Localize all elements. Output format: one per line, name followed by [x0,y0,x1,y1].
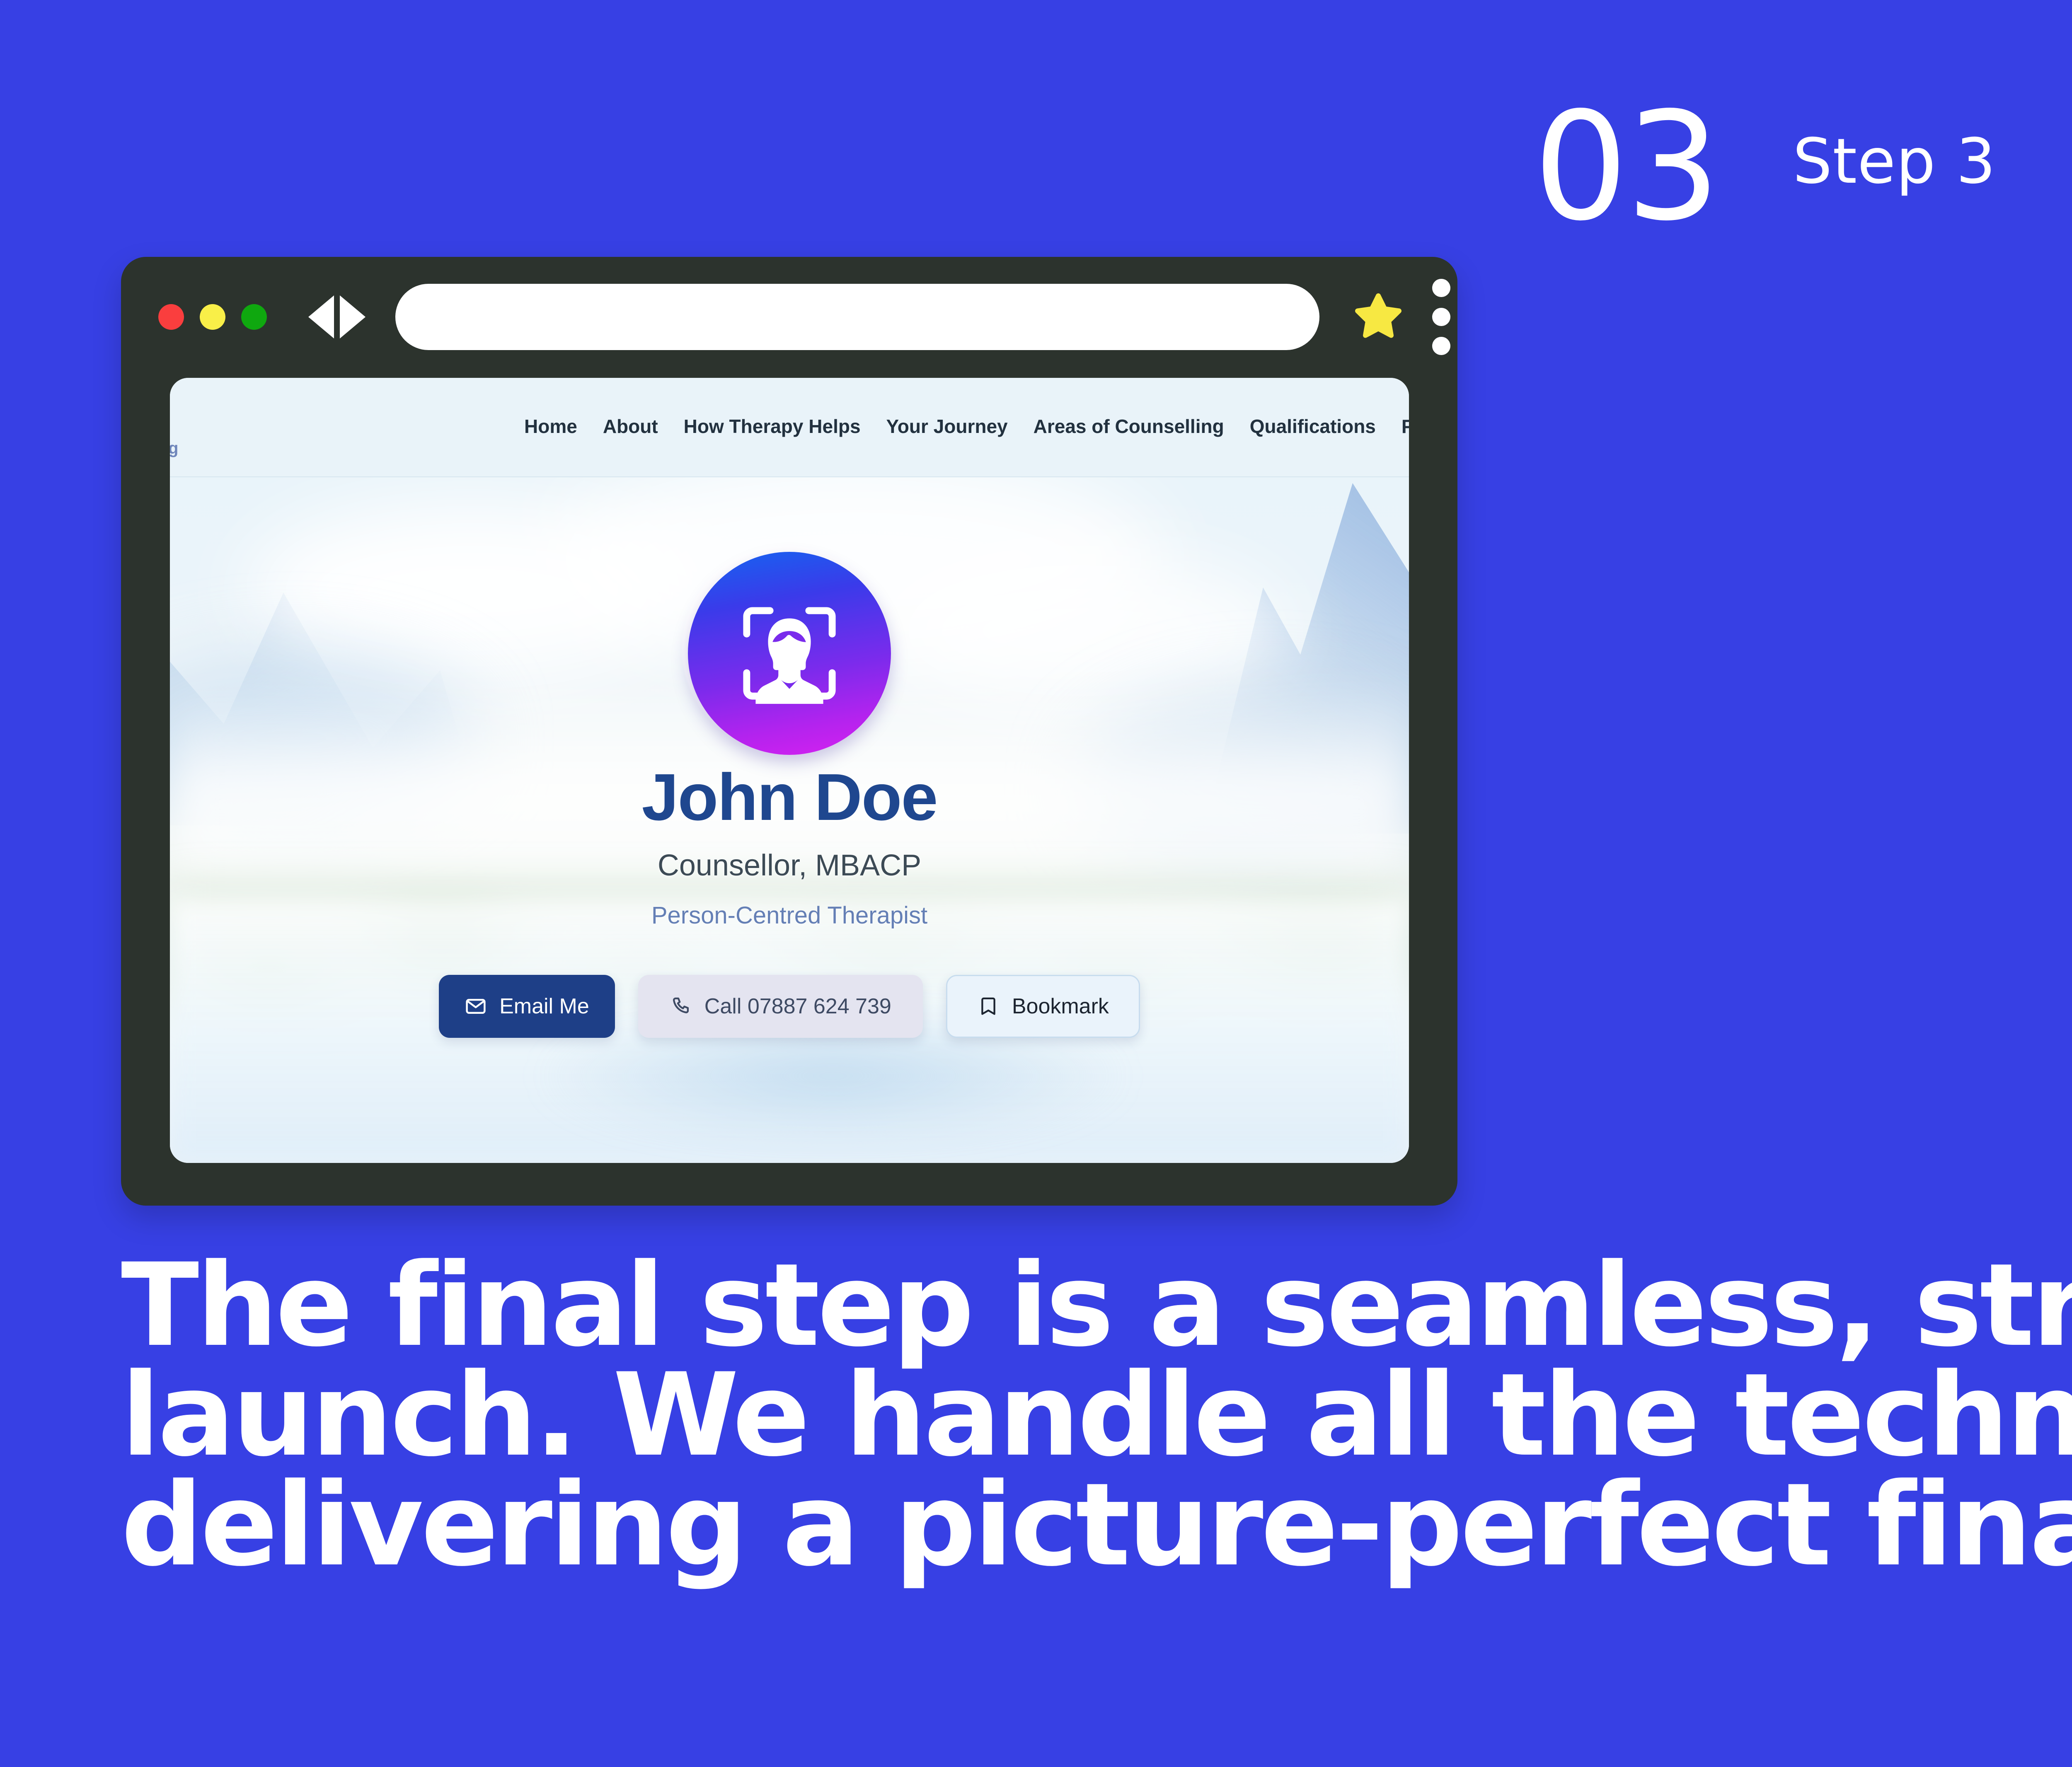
browser-viewport: elling Home About How Therapy Helps Your… [170,378,1409,1163]
traffic-light-buttons [158,304,267,330]
hero-cta-row: Email Me Call 07887 624 739 Bookmark [439,975,1140,1038]
site-logo[interactable]: elling [170,439,178,458]
email-me-button[interactable]: Email Me [439,975,615,1038]
step-badge: 03 Step 3 [1533,106,1996,228]
minimize-window-button[interactable] [200,304,225,330]
forward-arrow-icon[interactable] [340,295,366,338]
nav-item-qualifications[interactable]: Qualifications [1250,415,1376,438]
step-number: 03 [1533,106,1718,228]
call-label: Call 07887 624 739 [704,994,891,1019]
site-navbar: elling Home About How Therapy Helps Your… [170,378,1409,477]
hero-tagline: Person-Centred Therapist [651,902,927,929]
nav-item-areas-of-counselling[interactable]: Areas of Counselling [1034,415,1224,438]
bookmark-label: Bookmark [1012,994,1109,1019]
nav-item-about[interactable]: About [603,415,658,438]
email-me-label: Email Me [499,994,589,1019]
nav-item-home[interactable]: Home [524,415,577,438]
browser-toolbar [121,257,1457,377]
headline-line-2: launch. We handle all the technical deta… [121,1361,2072,1471]
avatar-circle [688,552,891,755]
step-label: Step 3 [1793,131,1996,193]
site-nav-links: Home About How Therapy Helps Your Journe… [524,415,1409,438]
nav-item-your-journey[interactable]: Your Journey [886,415,1008,438]
headline: The final step is a seamless, stress-fre… [121,1251,2072,1581]
headline-line-3: delivering a picture-perfect final produ… [121,1471,2072,1581]
call-button[interactable]: Call 07887 624 739 [638,975,923,1038]
envelope-icon [465,995,487,1018]
nav-item-how-therapy-helps[interactable]: How Therapy Helps [684,415,861,438]
navigation-arrows [308,295,366,338]
bookmark-icon [977,995,1000,1018]
nav-item-fees[interactable]: Fees [1402,415,1409,438]
phone-icon [670,995,692,1018]
maximize-window-button[interactable] [241,304,267,330]
hero-content: John Doe Counsellor, MBACP Person-Centre… [170,477,1409,1038]
bookmark-button[interactable]: Bookmark [946,975,1140,1038]
close-window-button[interactable] [158,304,184,330]
url-bar[interactable] [395,284,1319,350]
hero-role: Counsellor, MBACP [658,848,921,882]
hero-name: John Doe [642,762,937,832]
back-arrow-icon[interactable] [308,295,334,338]
hero-section: John Doe Counsellor, MBACP Person-Centre… [170,477,1409,1163]
browser-window: elling Home About How Therapy Helps Your… [121,257,1457,1206]
kebab-menu-icon[interactable] [1432,279,1450,355]
portrait-frame-icon [727,591,852,716]
star-icon[interactable] [1353,292,1403,342]
kebab-dot [1432,279,1450,297]
avatar [688,552,891,755]
kebab-dot [1432,337,1450,355]
headline-line-1: The final step is a seamless, stress-fre… [121,1251,2072,1361]
kebab-dot [1432,308,1450,326]
